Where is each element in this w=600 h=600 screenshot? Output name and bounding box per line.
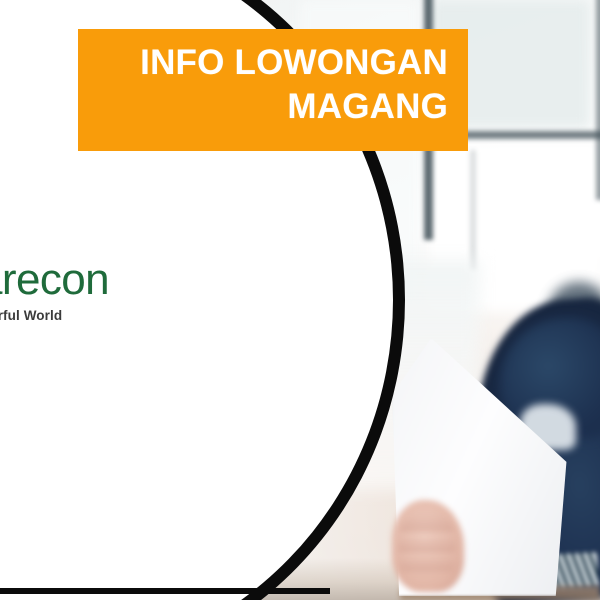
headline-line-2: MAGANG [96, 85, 448, 129]
person-fingers [398, 512, 456, 586]
headline-banner: INFO LOWONGAN MAGANG [78, 29, 468, 151]
window-frame-vertical-3 [470, 150, 476, 270]
summarecon-logo: marecon · Wonderful World [0, 258, 202, 323]
headline-line-1: INFO LOWONGAN [96, 41, 448, 85]
bottom-black-rule [0, 588, 330, 594]
promotional-poster: INFO LOWONGAN MAGANG marecon · Wonderful… [0, 0, 600, 600]
logo-tagline: · Wonderful World [0, 308, 202, 323]
window-frame-vertical-2 [596, 0, 600, 200]
logo-wordmark: marecon [0, 258, 202, 302]
